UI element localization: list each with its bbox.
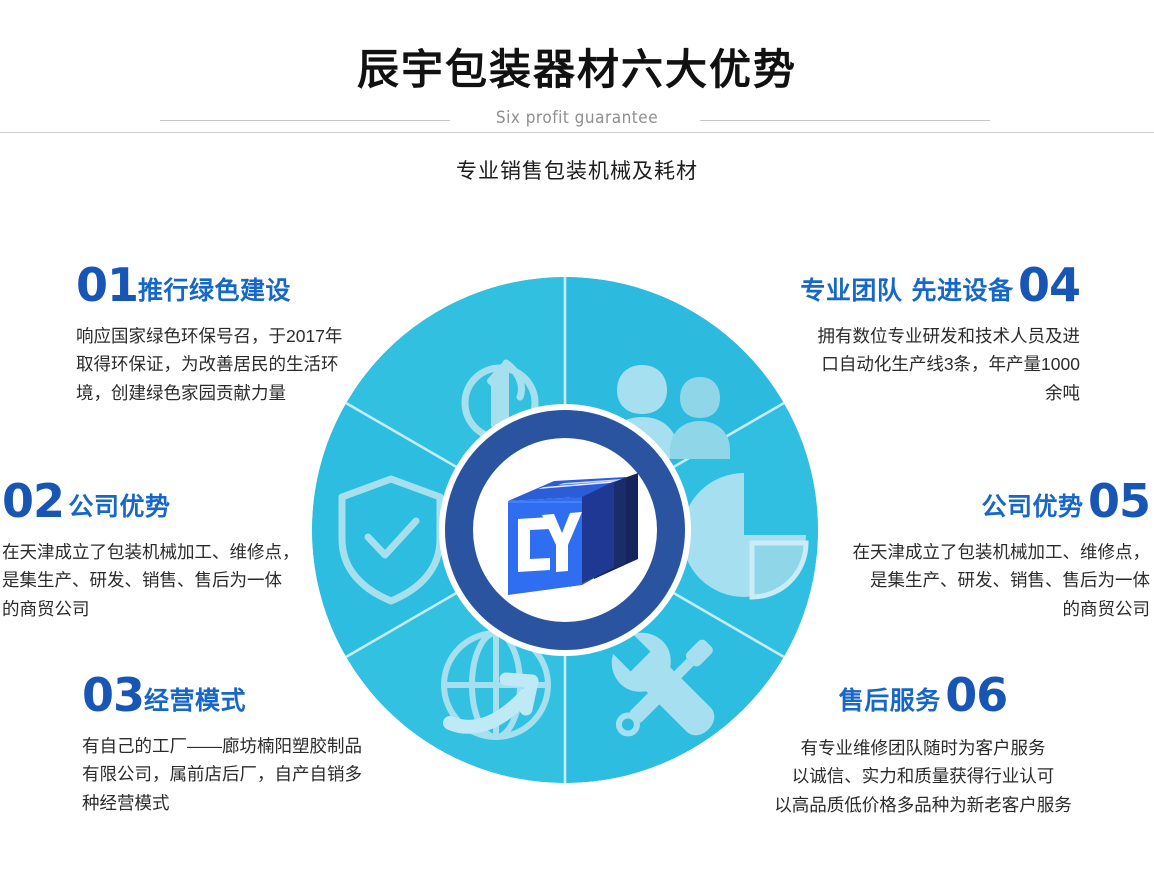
feature-05-body: 在天津成立了包装机械加工、维修点， 是集生产、研发、销售、售后为一体 的商贸公司 <box>844 538 1150 623</box>
feature-item-02: 02 公司优势 在天津成立了包装机械加工、维修点， 是集生产、研发、销售、售后为… <box>2 478 302 623</box>
feature-05-label: 公司优势 <box>982 492 1084 521</box>
feature-02-heading: 02 公司优势 <box>2 478 302 524</box>
feature-03-heading: 03经营模式 <box>82 672 392 718</box>
divider-line-full <box>0 132 1154 133</box>
feature-06-label: 售后服务 <box>839 686 941 715</box>
subtitle-english-text: Six profit guarantee <box>474 108 680 128</box>
feature-01-number: 01 <box>76 258 138 312</box>
feature-04-heading: 专业团队 先进设备 04 <box>780 262 1080 308</box>
feature-03-label: 经营模式 <box>144 686 246 715</box>
feature-04-label: 专业团队 先进设备 <box>800 276 1013 305</box>
feature-01-label: 推行绿色建设 <box>138 276 291 305</box>
feature-02-body: 在天津成立了包装机械加工、维修点， 是集生产、研发、销售、售后为一体 的商贸公司 <box>2 538 302 623</box>
feature-06-number: 06 <box>945 668 1007 722</box>
feature-06-body: 有专业维修团队随时为客户服务 以诚信、实力和质量获得行业认可 以高品质低价格多品… <box>768 734 1078 819</box>
feature-06-heading: 售后服务 06 <box>768 672 1078 718</box>
feature-02-number: 02 <box>2 474 64 528</box>
feature-item-05: 公司优势 05 在天津成立了包装机械加工、维修点， 是集生产、研发、销售、售后为… <box>844 478 1150 623</box>
feature-05-heading: 公司优势 05 <box>844 478 1150 524</box>
feature-item-01: 01推行绿色建设 响应国家绿色环保号召，于2017年 取得环保证，为改善居民的生… <box>76 262 376 407</box>
feature-item-03: 03经营模式 有自己的工厂——廊坊楠阳塑胶制品 有限公司，属前店后厂，自产自销多… <box>82 672 392 817</box>
feature-01-body: 响应国家绿色环保号召，于2017年 取得环保证，为改善居民的生活环 境，创建绿色… <box>76 322 376 407</box>
feature-03-number: 03 <box>82 668 144 722</box>
subtitle-english: Six profit guarantee <box>0 108 1154 128</box>
feature-04-number: 04 <box>1018 258 1080 312</box>
feature-02-label: 公司优势 <box>68 492 170 521</box>
feature-03-body: 有自己的工厂——廊坊楠阳塑胶制品 有限公司，属前店后厂，自产自销多 种经营模式 <box>82 732 392 817</box>
feature-04-body: 拥有数位专业研发和技术人员及进 口自动化生产线3条，年产量1000 余吨 <box>780 322 1080 407</box>
subtitle-divider: Six profit guarantee <box>0 108 1154 144</box>
feature-05-number: 05 <box>1088 474 1150 528</box>
page-title: 辰宇包装器材六大优势 <box>0 36 1154 97</box>
infographic-canvas: 辰宇包装器材六大优势 Six profit guarantee 专业销售包装机械… <box>0 0 1154 894</box>
feature-01-heading: 01推行绿色建设 <box>76 262 376 308</box>
feature-item-04: 专业团队 先进设备 04 拥有数位专业研发和技术人员及进 口自动化生产线3条，年… <box>780 262 1080 407</box>
feature-item-06: 售后服务 06 有专业维修团队随时为客户服务 以诚信、实力和质量获得行业认可 以… <box>768 672 1078 819</box>
subtitle-chinese: 专业销售包装机械及耗材 <box>0 155 1154 185</box>
